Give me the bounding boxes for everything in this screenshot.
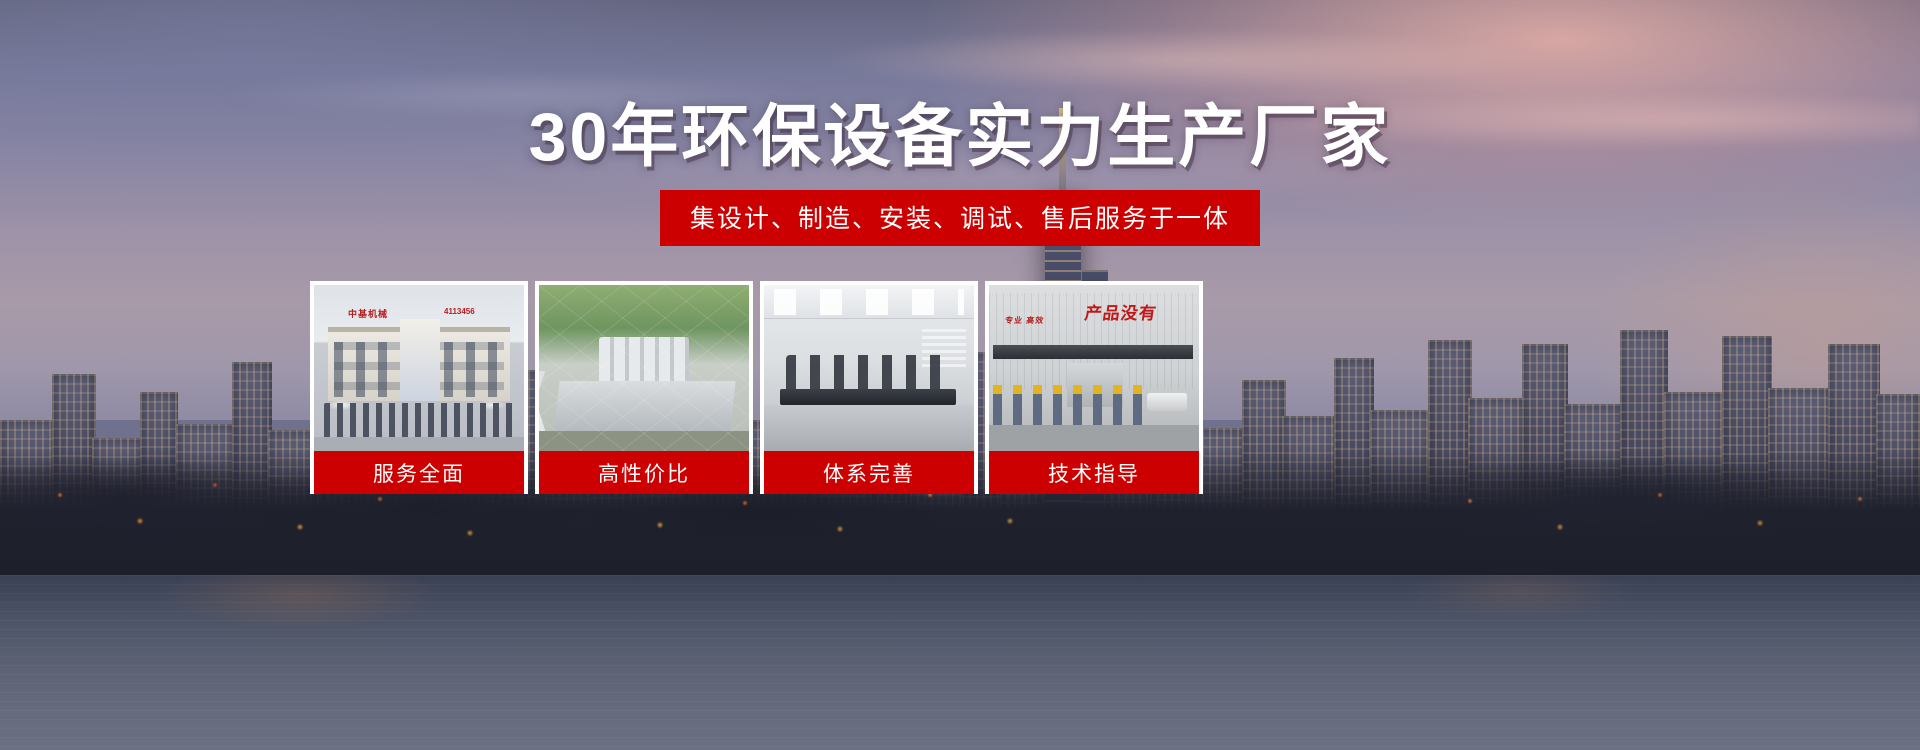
- factory-wall-slogan-small: 专业 高效: [1004, 315, 1045, 326]
- feature-card[interactable]: 中基机械 4113456 服务全面: [310, 281, 528, 494]
- card-photo-plant: [539, 285, 749, 451]
- card-caption: 技术指导: [989, 451, 1199, 494]
- subtitle-badge: 集设计、制造、安装、调试、售后服务于一体: [660, 190, 1260, 246]
- card-caption: 高性价比: [539, 451, 749, 494]
- hero-banner: 30年环保设备实力生产厂家 集设计、制造、安装、调试、售后服务于一体 中基机械 …: [0, 0, 1920, 750]
- card-photo-factory: 产品没有 专业 高效: [989, 285, 1199, 451]
- card-caption: 服务全面: [314, 451, 524, 494]
- card-photo-headquarters: 中基机械 4113456: [314, 285, 524, 451]
- page-title: 30年环保设备实力生产厂家: [0, 103, 1920, 171]
- building-sign-text: 中基机械: [348, 307, 388, 320]
- feature-card[interactable]: 高性价比: [535, 281, 753, 494]
- feature-card-row: 中基机械 4113456 服务全面 高性价比: [310, 281, 1555, 494]
- card-photo-office: [764, 285, 974, 451]
- subtitle-container: 集设计、制造、安装、调试、售后服务于一体: [0, 190, 1920, 246]
- river-water: [0, 575, 1920, 750]
- factory-wall-slogan: 产品没有: [1083, 299, 1159, 324]
- feature-card[interactable]: 体系完善: [760, 281, 978, 494]
- feature-card[interactable]: 产品没有 专业 高效 技术指导: [985, 281, 1203, 494]
- card-caption: 体系完善: [764, 451, 974, 494]
- building-phone-text: 4113456: [444, 307, 475, 316]
